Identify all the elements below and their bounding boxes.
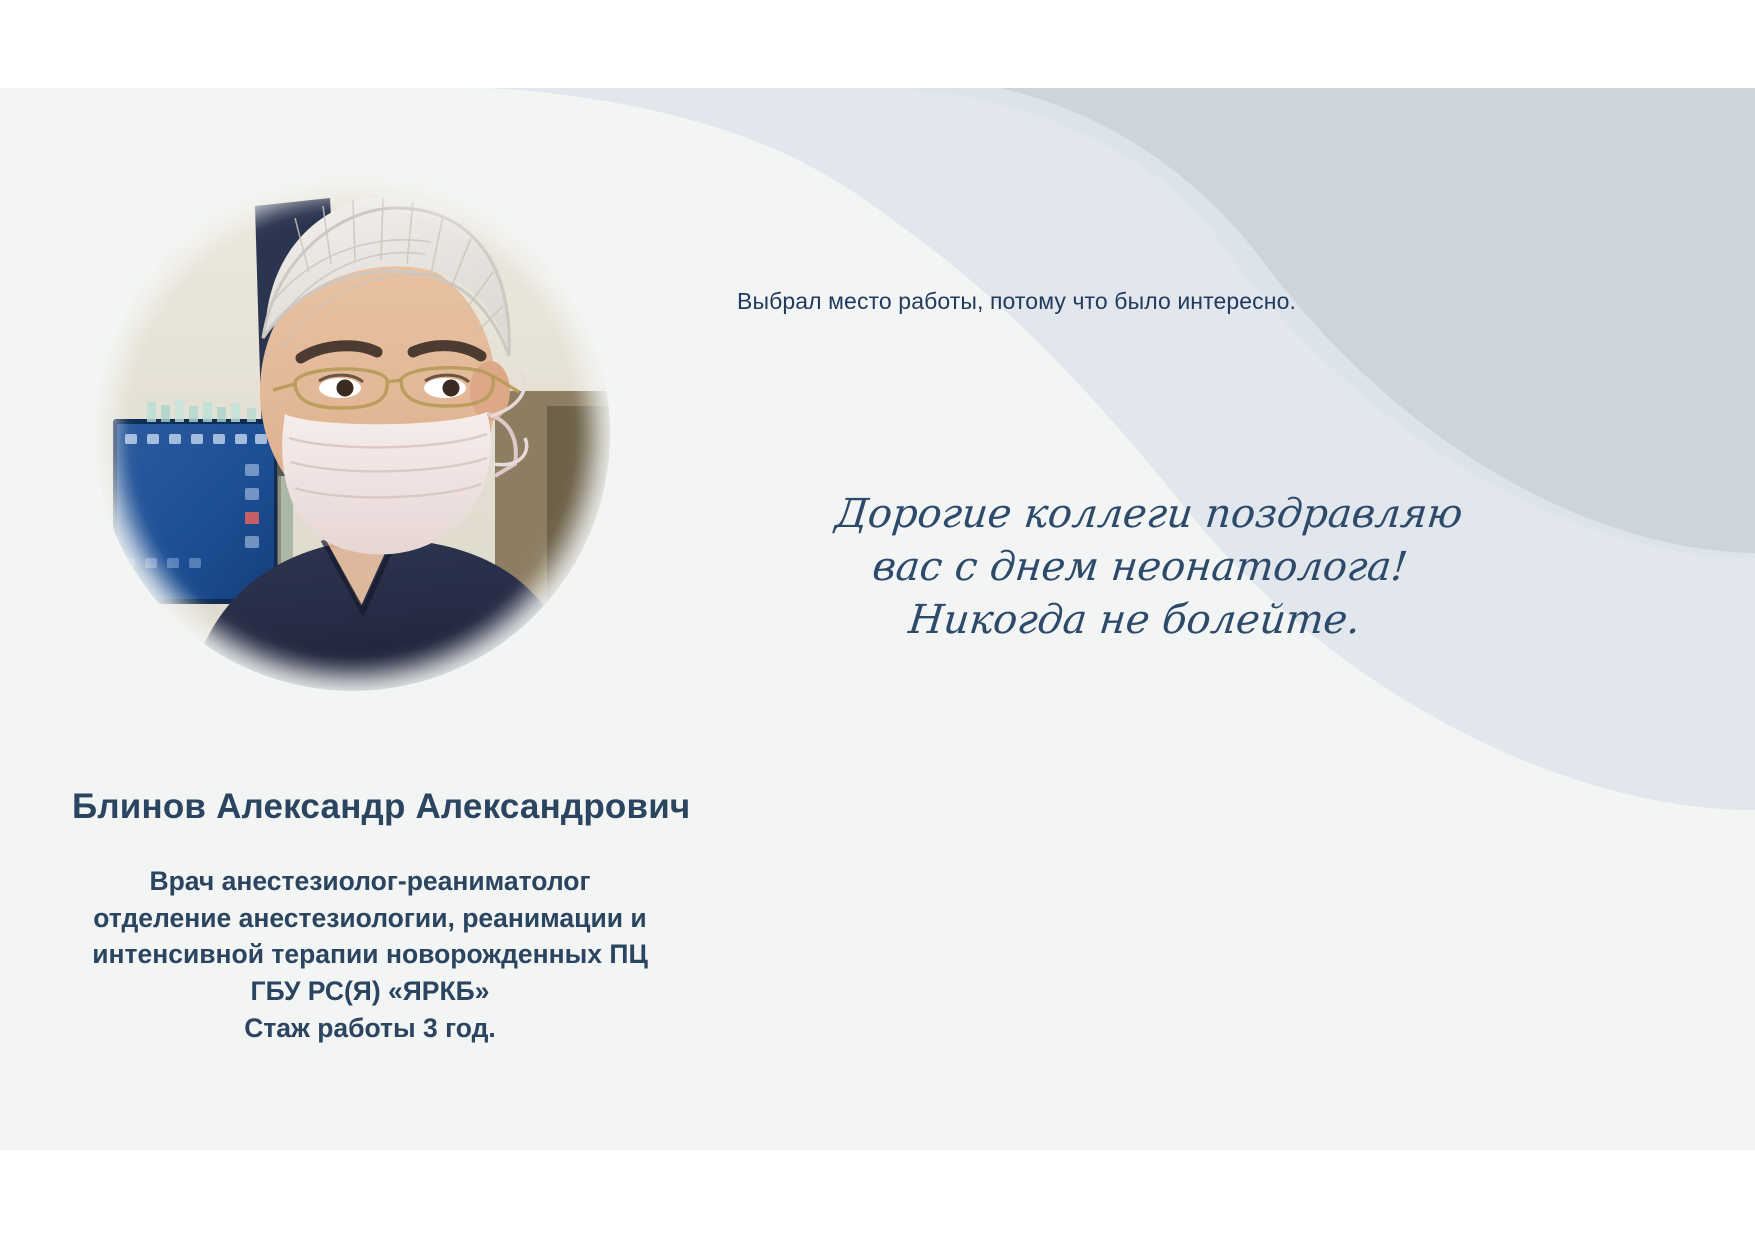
person-role-line: Стаж работы 3 год. xyxy=(60,1010,680,1047)
greeting-line: Никогда не болейте. xyxy=(822,594,1448,647)
handwritten-greeting: Дорогие коллеги поздравляю вас с днем не… xyxy=(822,488,1459,646)
greeting-line: вас с днем неонатолога! xyxy=(827,541,1453,594)
greeting-line: Дорогие коллеги поздравляю xyxy=(833,488,1459,541)
person-role-line: отделение анестезиологии, реанимации и xyxy=(60,900,680,937)
person-role-line: интенсивной терапии новорожденных ПЦ xyxy=(60,936,680,973)
person-role-line: Врач анестезиолог-реаниматолог xyxy=(60,863,680,900)
person-name: Блинов Александр Александрович xyxy=(72,787,712,827)
wave-dark-lobe xyxy=(1000,88,1755,553)
person-role-line: ГБУ РС(Я) «ЯРКБ» xyxy=(60,973,680,1010)
work-choice-quote: Выбрал место работы, потому что было инт… xyxy=(737,288,1296,315)
portrait-circle-mask xyxy=(95,176,610,691)
slide-canvas: Блинов Александр Александрович Врач анес… xyxy=(0,88,1755,1150)
person-role-block: Врач анестезиолог-реаниматолог отделение… xyxy=(60,863,680,1046)
portrait-photo xyxy=(95,176,610,691)
